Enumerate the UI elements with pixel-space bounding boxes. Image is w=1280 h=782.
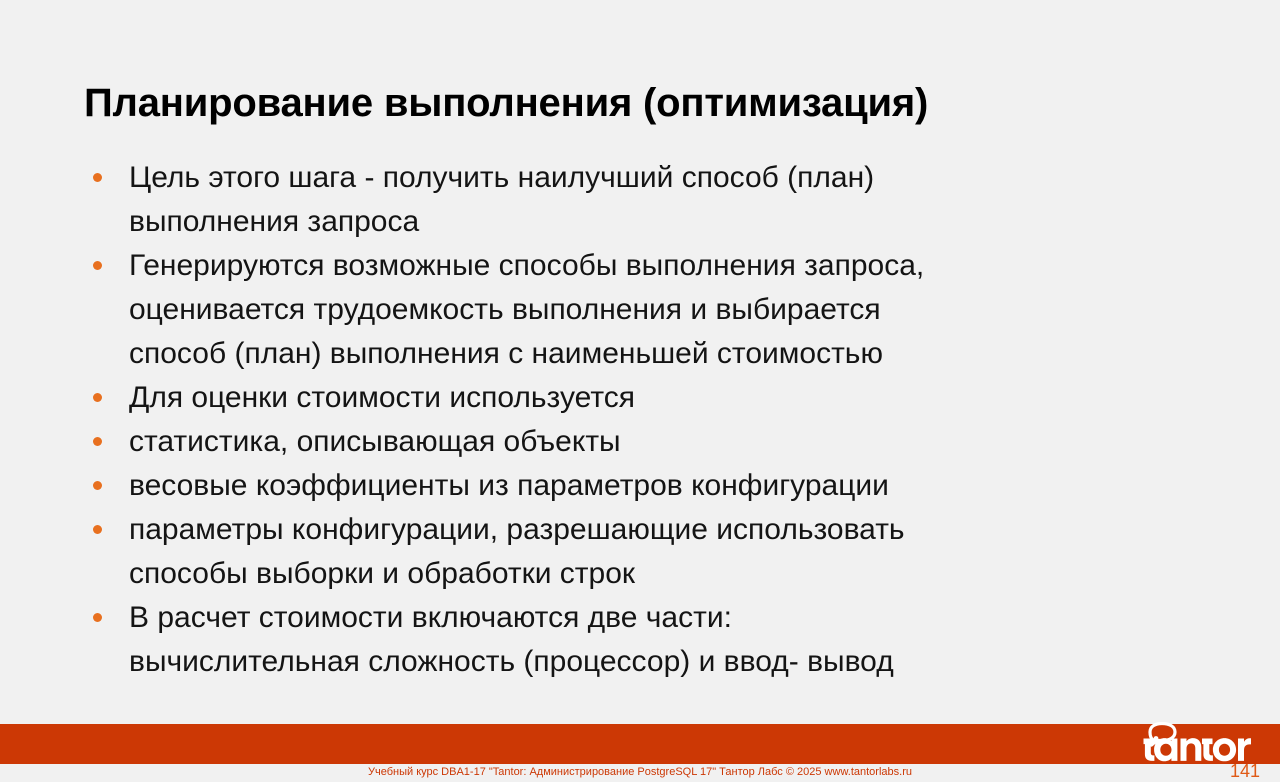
list-item: Для оценки стоимости используется	[84, 376, 1204, 420]
list-item: статистика, описывающая объекты	[84, 420, 1204, 464]
footer-caption: Учебный курс DBA1-17 "Tantor: Администри…	[0, 764, 1280, 781]
list-item-text: Генерируются возможные способы выполнени…	[129, 244, 1204, 376]
bullet-dot-icon	[93, 613, 102, 622]
list-item: параметры конфигурации, разрешающие испо…	[84, 508, 1204, 596]
bullet-dot-icon	[93, 525, 102, 534]
page-number: 141	[1230, 760, 1260, 782]
bullet-list: Цель этого шага - получить наилучший спо…	[84, 156, 1204, 684]
brand-logo	[1140, 722, 1252, 764]
bullet-dot-icon	[93, 261, 102, 270]
list-item-text: параметры конфигурации, разрешающие испо…	[129, 508, 1204, 596]
list-item-text: статистика, описывающая объекты	[129, 420, 1204, 464]
bullet-dot-icon	[93, 393, 102, 402]
brand-wordmark	[1144, 738, 1252, 761]
bullet-dot-icon	[93, 173, 102, 182]
list-item: Генерируются возможные способы выполнени…	[84, 244, 1204, 376]
list-item-text: Цель этого шага - получить наилучший спо…	[129, 156, 1204, 244]
bullet-dot-icon	[93, 437, 102, 446]
list-item: Цель этого шага - получить наилучший спо…	[84, 156, 1204, 244]
bullet-dot-icon	[93, 481, 102, 490]
slide: Планирование выполнения (оптимизация) Це…	[0, 0, 1280, 781]
list-item: В расчет стоимости включаются две части:…	[84, 596, 1204, 684]
list-item-text: В расчет стоимости включаются две части:…	[129, 596, 1204, 684]
list-item-text: Для оценки стоимости используется	[129, 376, 1204, 420]
page-title: Планирование выполнения (оптимизация)	[84, 79, 1204, 127]
list-item: весовые коэффициенты из параметров конфи…	[84, 464, 1204, 508]
list-item-text: весовые коэффициенты из параметров конфи…	[129, 464, 1204, 508]
footer-band	[0, 724, 1280, 764]
